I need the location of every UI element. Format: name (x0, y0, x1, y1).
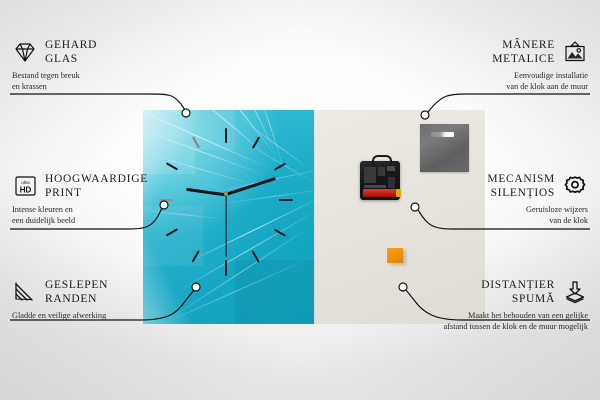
mechanism-hook (372, 155, 392, 166)
callout-silent-mechanism: MECANISM SILENȚIOS Geruisloze wijzers va… (383, 172, 588, 226)
callout-title-line2: METALICE (492, 53, 555, 65)
foam-spacer (387, 248, 403, 263)
framed-picture-icon (562, 40, 588, 64)
clock-minute-hand (226, 177, 276, 196)
gear-icon (562, 174, 588, 198)
callout-desc-line2: een duidelijk beeld (12, 216, 75, 225)
callout-description: Gladde en veilige afwerking (12, 310, 227, 321)
callout-title-line1: GEHARD (45, 39, 97, 51)
ultra-hd-icon: ultra HD (12, 174, 38, 198)
bevel-lines-icon (12, 280, 38, 304)
clock-tick (192, 250, 200, 262)
callout-ground-edges: GESLEPEN RANDEN Gladde en veilige afwerk… (12, 278, 227, 321)
callout-description: Bestand tegen breuk en krassen (12, 70, 217, 92)
callout-title-line2: SILENȚIOS (491, 187, 555, 199)
callout-title: MECANISM SILENȚIOS (487, 172, 555, 200)
svg-text:HD: HD (20, 185, 32, 194)
clock-tick (192, 136, 200, 148)
clock-tick (166, 162, 178, 170)
clock-tick (274, 228, 286, 236)
callout-title-line1: GESLEPEN (45, 279, 108, 291)
callout-desc-line1: Intense kleuren en (12, 205, 73, 214)
callout-metal-handles: MÂNERE METALICE Eenvoudige installatie v… (383, 38, 588, 92)
callout-title-line2: GLAS (45, 53, 78, 65)
callout-title: DISTANȚIER SPUMĂ (481, 278, 555, 306)
callout-description: Intense kleuren en een duidelijk beeld (12, 204, 227, 226)
metal-hanger-plate (420, 124, 469, 172)
callout-tempered-glass: GEHARD GLAS Bestand tegen breuk en krass… (12, 38, 217, 92)
callout-header: ultra HD HOOGWAARDIGE PRINT (12, 172, 227, 200)
callout-desc-line2: afstand tussen de klok en de muur mogeli… (444, 322, 588, 331)
callout-description: Eenvoudige installatie van de klok aan d… (383, 70, 588, 92)
callout-header: MÂNERE METALICE (383, 38, 588, 66)
callout-title-line1: HOOGWAARDIGE (45, 173, 148, 185)
callout-title: MÂNERE METALICE (492, 38, 555, 66)
callout-title-line2: PRINT (45, 187, 82, 199)
callout-title: GESLEPEN RANDEN (45, 278, 108, 306)
clock-tick (279, 199, 293, 201)
callout-description: Geruisloze wijzers van de klok (383, 204, 588, 226)
callout-title-line1: MÂNERE (502, 39, 555, 51)
callout-title-line2: RANDEN (45, 293, 97, 305)
callout-header: GEHARD GLAS (12, 38, 217, 66)
press-down-icon (562, 280, 588, 304)
callout-desc-line1: Gladde en veilige afwerking (12, 311, 106, 320)
clock-tick (166, 228, 178, 236)
callout-desc-line1: Eenvoudige installatie (514, 71, 588, 80)
callout-high-quality-print: ultra HD HOOGWAARDIGE PRINT Intense kleu… (12, 172, 227, 226)
callout-header: DISTANȚIER SPUMĂ (348, 278, 588, 306)
callout-desc-line2: van de klok aan de muur (506, 82, 588, 91)
callout-title: HOOGWAARDIGE PRINT (45, 172, 148, 200)
callout-desc-line1: Maakt het behouden van een gelijke (468, 311, 588, 320)
svg-text:ultra: ultra (21, 180, 30, 185)
callout-title-line2: SPUMĂ (512, 293, 555, 305)
infographic-canvas: GEHARD GLAS Bestand tegen breuk en krass… (0, 0, 600, 400)
clock-tick (252, 250, 260, 262)
callout-title-line1: MECANISM (487, 173, 555, 185)
callout-description: Maakt het behouden van een gelijke afsta… (348, 310, 588, 332)
diamond-icon (12, 40, 38, 64)
callout-title: GEHARD GLAS (45, 38, 97, 66)
callout-header: GESLEPEN RANDEN (12, 278, 227, 306)
callout-desc-line1: Bestand tegen breuk (12, 71, 80, 80)
callout-foam-spacer: DISTANȚIER SPUMĂ Maakt het behouden van … (348, 278, 588, 332)
callout-title-line1: DISTANȚIER (481, 279, 555, 291)
clock-tick (225, 128, 227, 143)
hanger-slot (431, 132, 454, 137)
callout-desc-line2: en krassen (12, 82, 47, 91)
callout-desc-line2: van de klok (549, 216, 588, 225)
callout-header: MECANISM SILENȚIOS (383, 172, 588, 200)
clock-tick (274, 162, 286, 170)
clock-tick (252, 136, 260, 148)
clock-tick (225, 260, 227, 276)
callout-desc-line1: Geruisloze wijzers (526, 205, 588, 214)
